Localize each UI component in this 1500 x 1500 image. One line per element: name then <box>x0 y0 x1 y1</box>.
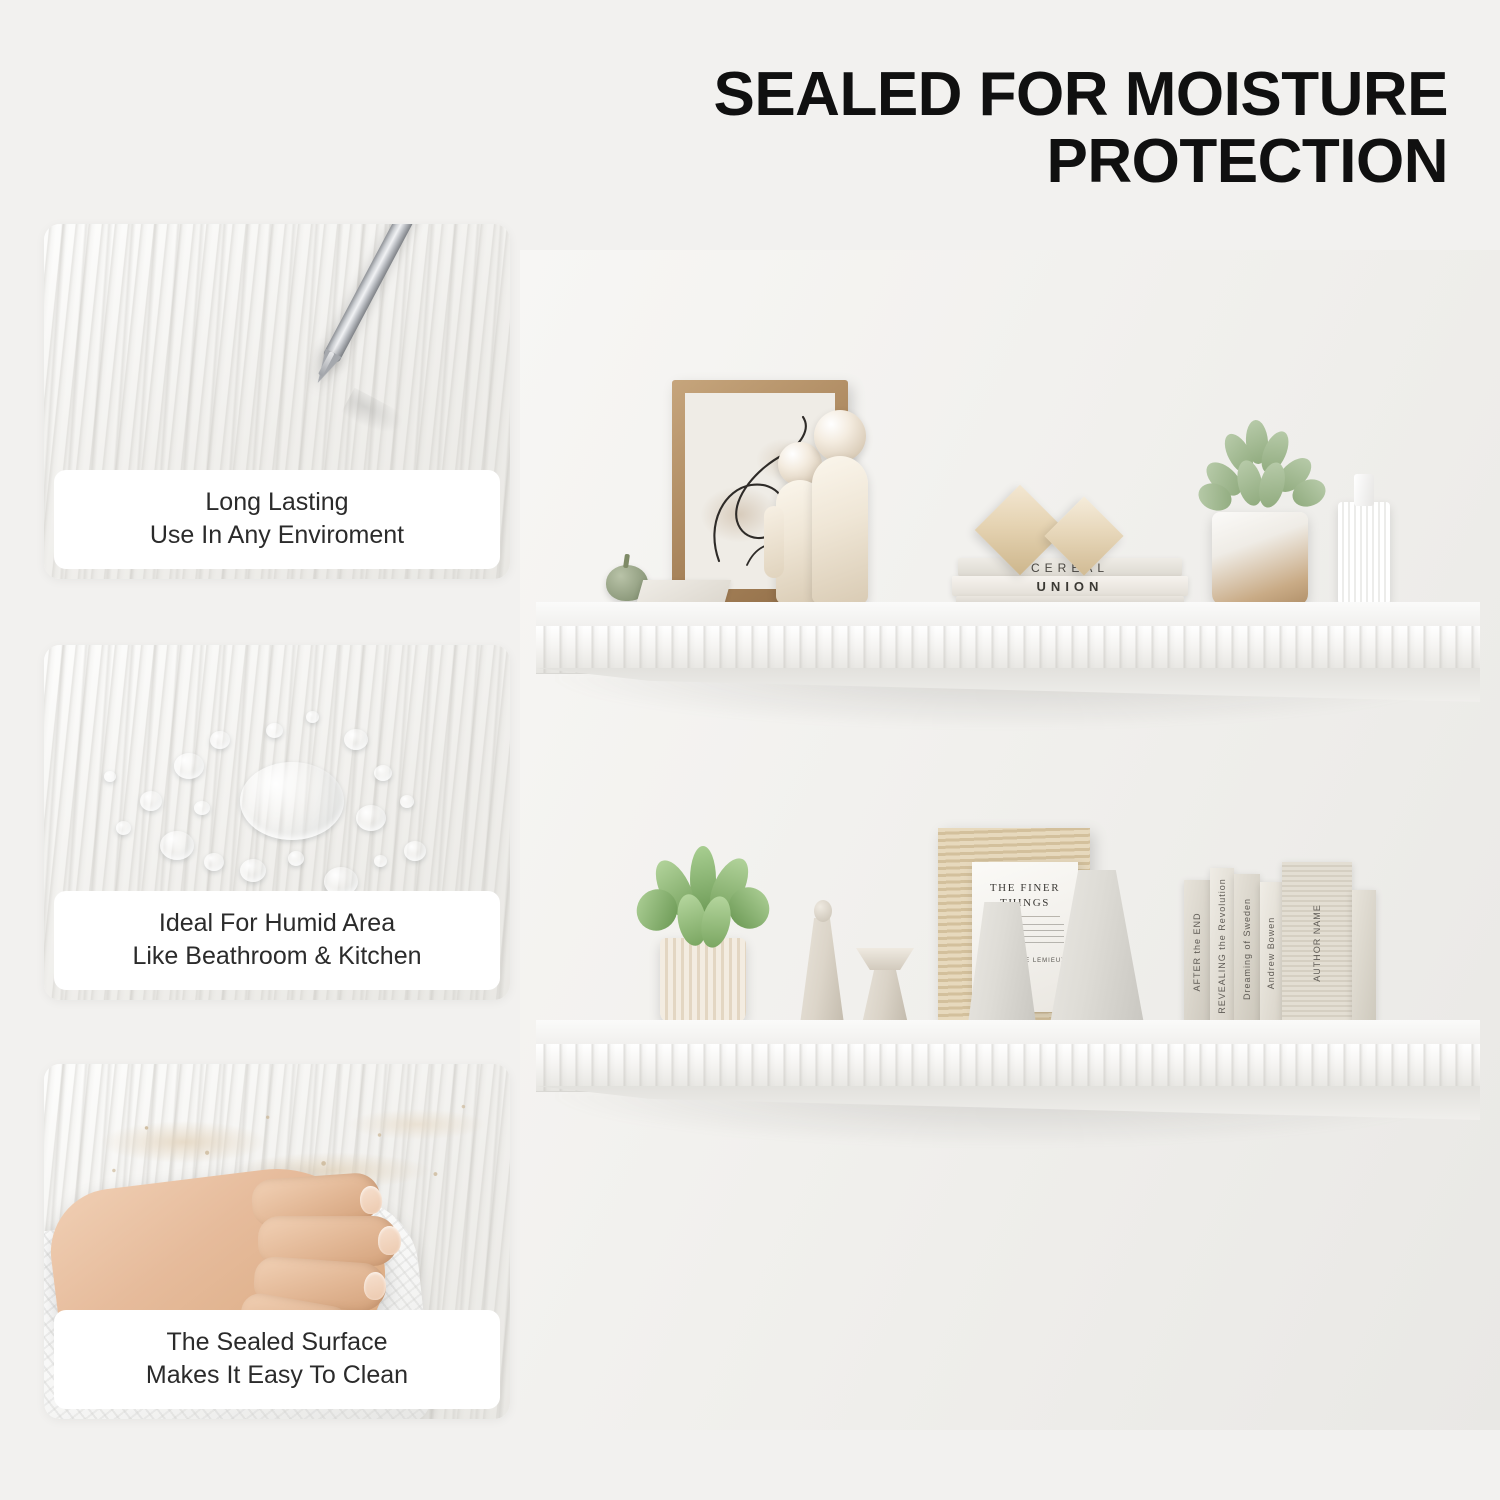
book-spine-label: Andrew Bowen <box>1266 917 1276 990</box>
lower-shelf-plank <box>536 1020 1480 1092</box>
water-droplet <box>174 753 204 779</box>
green-plant <box>636 846 770 946</box>
water-droplet <box>116 821 131 835</box>
book-title-line-1: THE FINER <box>972 882 1078 894</box>
water-droplet <box>266 723 283 738</box>
book-spine-label: REVEALING the Revolution <box>1217 878 1227 1014</box>
hardcover-book-1: AFTER the END <box>1184 880 1210 1024</box>
water-droplet <box>374 765 392 781</box>
feature-card-easy-clean: The Sealed Surface Makes It Easy To Clea… <box>44 1064 510 1419</box>
caption-line-1: Ideal For Humid Area <box>64 907 490 940</box>
book-stack-upper-2: UNION <box>952 576 1188 596</box>
hardcover-book-4: Andrew Bowen <box>1260 882 1282 1024</box>
headline-line-1: SEALED FOR MOISTURE <box>0 62 1448 129</box>
pearl-body-right <box>812 456 868 604</box>
water-droplet <box>204 853 224 871</box>
water-droplet <box>240 859 266 882</box>
feature-card-durability: Long Lasting Use In Any Enviroment <box>44 224 510 579</box>
pearl-arm <box>764 506 784 578</box>
pearl-head-right <box>814 410 866 462</box>
feature-card-water-resistance: Ideal For Humid Area Like Beathroom & Ki… <box>44 645 510 1000</box>
water-droplet <box>160 831 194 860</box>
hardcover-book-2: REVEALING the Revolution <box>1210 868 1234 1024</box>
hardcover-book-3: Dreaming of Sweden <box>1234 874 1260 1024</box>
marble-pot <box>1212 512 1308 606</box>
shelf-top-surface <box>536 602 1480 628</box>
feature-caption: The Sealed Surface Makes It Easy To Clea… <box>54 1310 500 1409</box>
book-spine-label: AFTER the END <box>1192 912 1202 991</box>
water-droplet <box>140 791 162 811</box>
book-spine-label: Dreaming of Sweden <box>1242 898 1252 1000</box>
page-title: SEALED FOR MOISTURE PROTECTION <box>0 62 1500 196</box>
shelf-front-edge <box>536 1044 1480 1092</box>
fingernail <box>378 1226 401 1255</box>
caption-line-1: Long Lasting <box>64 486 490 519</box>
feature-caption: Long Lasting Use In Any Enviroment <box>54 470 500 569</box>
tall-candle-holder-knob <box>814 900 832 922</box>
shelf-top-surface <box>536 1020 1480 1046</box>
book-title-union: UNION <box>952 579 1188 594</box>
water-droplet <box>306 711 319 723</box>
water-droplet <box>210 731 230 749</box>
water-droplet <box>344 729 368 750</box>
upper-shelf-plank <box>536 602 1480 674</box>
hardcover-book-6 <box>1352 890 1376 1024</box>
pearl-couple-sculpture <box>758 410 878 606</box>
water-droplet <box>194 801 210 815</box>
water-droplet <box>356 805 386 831</box>
water-droplet <box>240 762 344 840</box>
plant-pot-textured <box>660 938 746 1024</box>
water-droplet <box>400 795 414 808</box>
bottle-neck <box>1354 474 1374 506</box>
hardcover-book-5: AUTHOR NAME <box>1282 862 1352 1024</box>
shelf-front-edge <box>536 626 1480 674</box>
water-droplet <box>374 855 387 867</box>
book-title-cereal: CEREAL <box>958 561 1182 575</box>
small-leaning-photo <box>637 580 731 602</box>
succulent-plant <box>1202 418 1322 518</box>
feature-caption: Ideal For Humid Area Like Beathroom & Ki… <box>54 891 500 990</box>
book-spine-label: AUTHOR NAME <box>1312 904 1322 982</box>
water-droplet <box>104 771 116 782</box>
styled-shelves-scene: CEREAL UNION <box>520 250 1500 1430</box>
caption-line-1: The Sealed Surface <box>64 1326 490 1359</box>
water-droplet <box>288 851 304 866</box>
caption-line-2: Use In Any Enviroment <box>64 519 490 552</box>
white-ribbed-bottle-vase <box>1338 502 1390 606</box>
headline-line-2: PROTECTION <box>0 129 1448 196</box>
caption-line-2: Like Beathroom & Kitchen <box>64 940 490 973</box>
caption-line-2: Makes It Easy To Clean <box>64 1359 490 1392</box>
water-droplet <box>404 841 426 861</box>
